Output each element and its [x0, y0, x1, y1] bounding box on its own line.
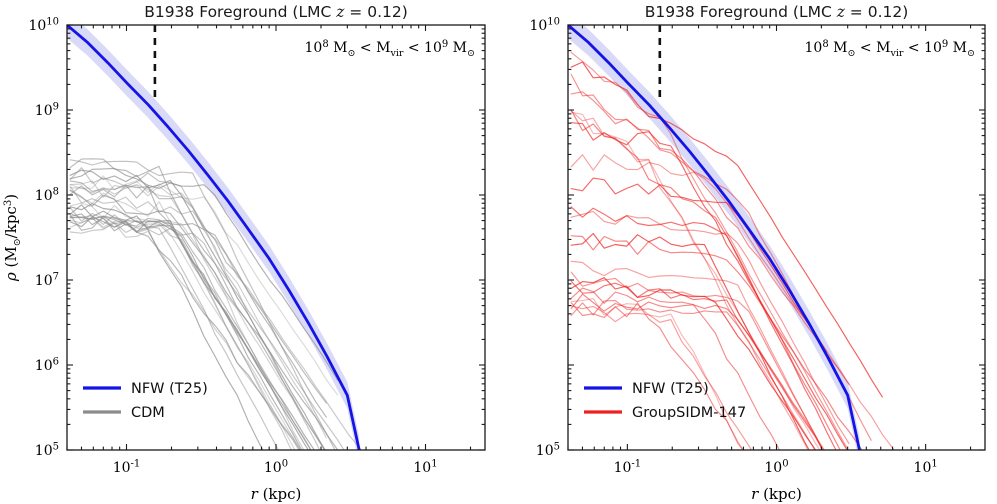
tick-label: 101 [914, 459, 938, 477]
halo-profile-curve [70, 214, 315, 474]
tick-label: 1010 [529, 17, 560, 35]
halo-profile-curve [571, 207, 849, 475]
mass-range-annotation: 108 M⊙ < Mvir < 109 M⊙ [305, 39, 475, 59]
legend-label-1: GroupSIDM-147 [632, 405, 746, 421]
legend-label-0: NFW (T25) [131, 381, 208, 397]
tick-label: 108 [35, 187, 59, 205]
tick-label: 100 [264, 459, 288, 477]
panel-title: B1938 Foreground (LMC z = 0.12) [645, 3, 909, 21]
halo-profile-curve [571, 62, 882, 397]
tick-label: 101 [413, 459, 437, 477]
nfw-uncertainty-band [568, 12, 860, 463]
tick-label: 10-1 [113, 459, 141, 477]
tick-label: 100 [764, 459, 788, 477]
tick-label: 109 [35, 102, 59, 120]
panel-right-panel: 10-11001011051010B1938 Foreground (LMC z… [529, 3, 985, 503]
halo-profile-curve [70, 218, 337, 472]
tick-label: 106 [35, 357, 59, 375]
halo-profile-curve [571, 178, 827, 352]
tick-label: 1010 [28, 17, 59, 35]
figure-canvas: 10-11001011051061071081091010B1938 Foreg… [0, 0, 997, 504]
tick-label: 105 [35, 442, 59, 460]
x-axis-label: r (kpc) [251, 485, 302, 503]
legend-label-0: NFW (T25) [632, 381, 709, 397]
tick-label: 107 [35, 272, 59, 290]
x-axis-label: r (kpc) [751, 485, 802, 503]
tick-label: 10-1 [614, 459, 642, 477]
nfw-mean-line [568, 25, 860, 450]
y-axis-label: ρ (M⊙/kpc3) [2, 194, 23, 282]
mass-range-annotation: 108 M⊙ < Mvir < 109 M⊙ [805, 39, 975, 59]
figure-svg: 10-11001011051061071081091010B1938 Foreg… [0, 0, 997, 504]
halo-profile-curve [571, 92, 849, 385]
panel-left-panel: 10-11001011051061071081091010B1938 Foreg… [2, 3, 485, 503]
panel-title: B1938 Foreground (LMC z = 0.12) [144, 3, 408, 21]
plot-area [67, 12, 371, 479]
halo-profile-curve [70, 216, 315, 473]
legend-label-1: CDM [131, 405, 165, 421]
tick-label: 105 [536, 442, 560, 460]
